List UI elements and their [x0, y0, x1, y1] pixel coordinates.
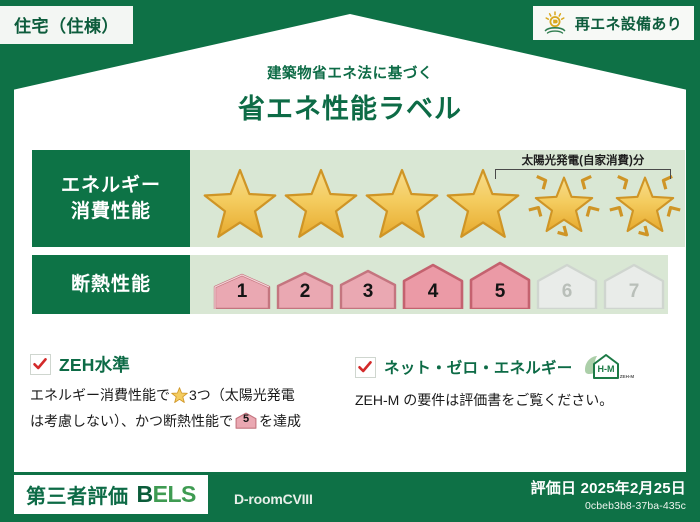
row-insulation-label-text: 断熱性能: [71, 272, 151, 298]
solar-annotation-label: 太陽光発電(自家消費)分: [495, 152, 671, 168]
check-icon: [357, 359, 373, 375]
net-zero-description: ZEH-M の要件は評価書をご覧ください。: [355, 389, 670, 412]
insulation-badge-1-value: 1: [212, 281, 272, 303]
bels-en-label: BELS: [137, 481, 196, 508]
net-zero-header: ネット・ゼロ・エネルギー H-M ZEH-M: [355, 352, 670, 382]
solar-sun-icon: [542, 11, 568, 35]
evaluation-info: 評価日 2025年2月25日 0cbeb3b8-37ba-435c: [531, 477, 686, 512]
inline-badge-value: 5: [235, 411, 257, 429]
row-energy-label-line2: 消費性能: [71, 199, 151, 225]
row-energy-body: 太陽光発電(自家消費)分: [190, 150, 685, 247]
row-insulation-performance: 断熱性能 1 2: [32, 255, 668, 314]
check-icon: [32, 356, 48, 372]
zeh-desc-part1: エネルギー消費性能で: [30, 387, 170, 403]
insulation-badges: 1 2 3: [212, 261, 666, 309]
row-energy-label: エネルギー 消費性能: [32, 150, 190, 247]
zeh-desc-part4: を達成: [259, 413, 301, 429]
bels-letters-els: ELS: [153, 481, 196, 507]
net-zero-checkbox[interactable]: [355, 357, 376, 378]
bels-certification-mark: 第三者評価 BELS: [14, 475, 208, 514]
title-subtitle: 建築物省エネ法に基づく: [0, 62, 700, 83]
star-icon-2: [281, 163, 361, 241]
zeh-standard-checkbox[interactable]: [30, 354, 51, 375]
room-code-label: D-roomCVIII: [234, 491, 313, 507]
row-energy-label-line1: エネルギー: [61, 173, 161, 199]
solar-annotation: 太陽光発電(自家消費)分: [495, 152, 671, 179]
evaluation-date-label: 評価日: [531, 480, 577, 497]
insulation-badge-4-value: 4: [401, 281, 465, 303]
zeh-m-logo-text: H-M: [598, 364, 615, 374]
insulation-badge-7: 7: [602, 263, 666, 309]
insulation-badge-3: 3: [338, 269, 398, 309]
zeh-standard-header: ZEH水準: [30, 352, 355, 377]
insulation-badge-6: 6: [535, 263, 599, 309]
insulation-badge-5: 5: [468, 261, 532, 309]
zeh-desc-part3: は考慮しない）、かつ断熱性能で: [30, 413, 233, 429]
bels-jp-label: 第三者評価: [26, 480, 129, 509]
inline-star-icon: [171, 387, 188, 410]
solar-bracket-icon: [495, 169, 671, 179]
inline-insulation-badge: 5: [235, 412, 257, 429]
zeh-standard-block: ZEH水準 エネルギー消費性能で3つ（太陽光発電は考慮しない）、かつ断熱性能で5…: [30, 352, 355, 432]
insulation-badge-2: 2: [275, 271, 335, 309]
renewable-energy-badge: 再エネ設備あり: [533, 6, 694, 40]
insulation-badge-6-value: 6: [535, 281, 599, 303]
zeh-standard-title: ZEH水準: [59, 352, 130, 377]
insulation-badge-4: 4: [401, 263, 465, 309]
zeh-m-logo-sub: ZEH-M: [620, 374, 635, 379]
title-main: 省エネ性能ラベル: [0, 87, 700, 126]
energy-performance-label: 住宅（住棟） 再エネ設備あり 建築物省エネ法に基づく 省エネ性能ラベル: [0, 0, 700, 522]
bels-letter-b: B: [137, 481, 153, 507]
star-icon-1: [200, 163, 280, 241]
insulation-badge-7-value: 7: [602, 281, 666, 303]
renewable-badge-label: 再エネ設備あり: [575, 13, 682, 34]
zeh-criteria-section: ZEH水準 エネルギー消費性能で3つ（太陽光発電は考慮しない）、かつ断熱性能で5…: [30, 352, 670, 432]
insulation-badge-1: 1: [212, 273, 272, 309]
zeh-desc-part2: 3つ（太陽光発電: [189, 387, 295, 403]
zeh-standard-description: エネルギー消費性能で3つ（太陽光発電は考慮しない）、かつ断熱性能で5を達成: [30, 384, 355, 432]
evaluation-date-value: 2025年2月25日: [581, 480, 686, 497]
row-insulation-label: 断熱性能: [32, 255, 190, 314]
footer-bar: 第三者評価 BELS D-roomCVIII 評価日 2025年2月25日 0c…: [0, 472, 700, 522]
building-type-tag: 住宅（住棟）: [0, 6, 133, 44]
evaluation-date: 評価日 2025年2月25日: [531, 477, 686, 498]
net-zero-energy-block: ネット・ゼロ・エネルギー H-M ZEH-M ZEH-M の要件は評価書をご覧く…: [355, 352, 670, 432]
row-insulation-body: 1 2 3: [190, 255, 668, 314]
net-zero-title: ネット・ゼロ・エネルギー: [384, 356, 572, 378]
evaluation-id: 0cbeb3b8-37ba-435c: [531, 500, 686, 512]
title-block: 建築物省エネ法に基づく 省エネ性能ラベル: [0, 62, 700, 126]
performance-rows: エネルギー 消費性能: [32, 150, 668, 322]
zeh-m-logo-icon: H-M ZEH-M: [583, 352, 635, 382]
star-icon-3: [362, 163, 442, 241]
row-energy-performance: エネルギー 消費性能: [32, 150, 668, 247]
insulation-badge-3-value: 3: [338, 281, 398, 303]
insulation-badge-2-value: 2: [275, 281, 335, 303]
insulation-badge-5-value: 5: [468, 281, 532, 303]
